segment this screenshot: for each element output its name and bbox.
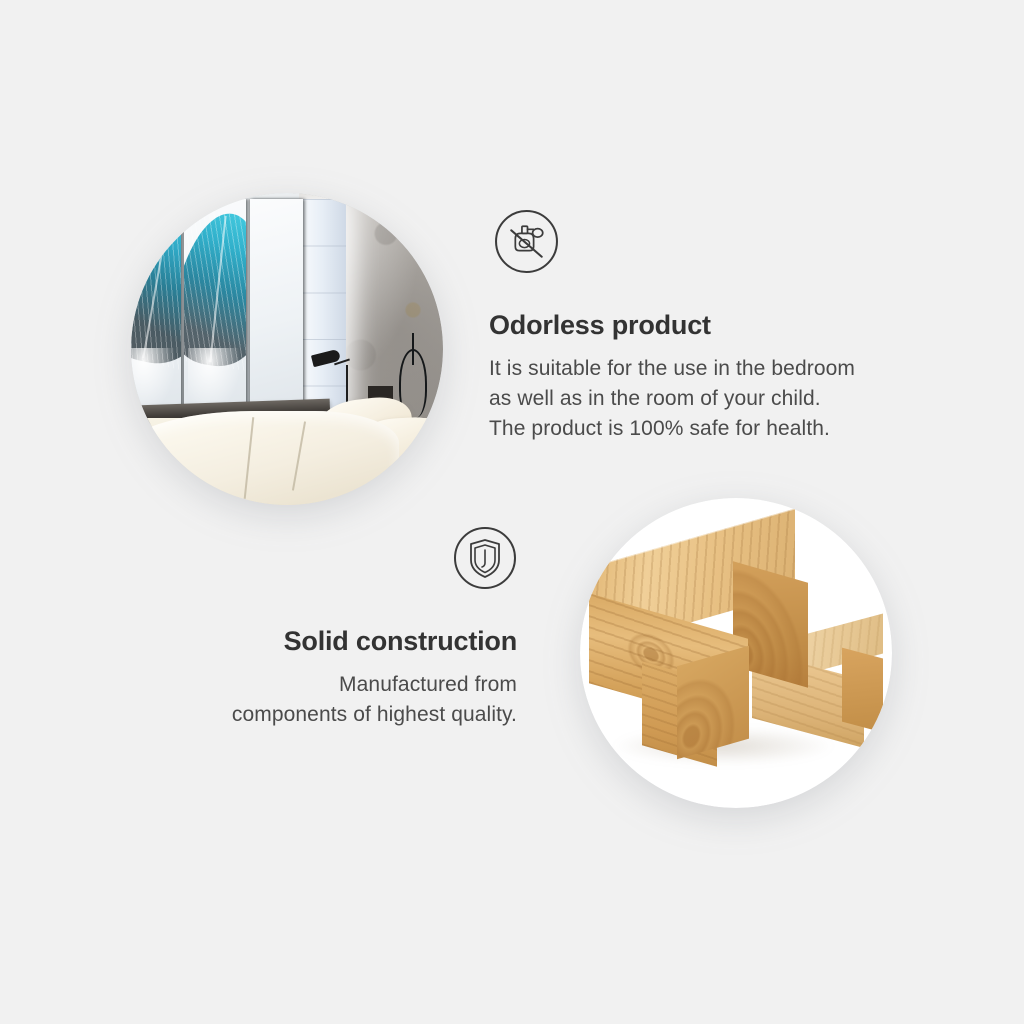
feature-body: It is suitable for the use in the bedroo… xyxy=(489,354,929,444)
shield-icon xyxy=(453,526,517,590)
wood-scene xyxy=(580,498,892,808)
feature-body: Manufactured from components of highest … xyxy=(165,670,517,730)
bedroom-scene xyxy=(131,193,443,505)
feature-text-odorless: Odorless product It is suitable for the … xyxy=(489,311,929,444)
feather-canvas-panel-1 xyxy=(131,199,181,417)
feather-canvas-panel-3 xyxy=(250,199,303,417)
infographic-canvas: Odorless product It is suitable for the … xyxy=(0,0,1024,1024)
feature-title: Solid construction xyxy=(165,627,517,657)
feature-title: Odorless product xyxy=(489,311,929,341)
bedroom-feather-wall-art-photo xyxy=(131,193,443,505)
duvet xyxy=(131,411,399,505)
feature-text-solid-construction: Solid construction Manufactured from com… xyxy=(165,627,517,730)
wooden-beams-photo xyxy=(580,498,892,808)
feather-canvas-panel-2 xyxy=(184,199,246,417)
wire-lamp-pole xyxy=(412,333,414,364)
no-perfume-icon xyxy=(494,209,559,274)
wood-beam-right-end-grain xyxy=(842,648,883,733)
